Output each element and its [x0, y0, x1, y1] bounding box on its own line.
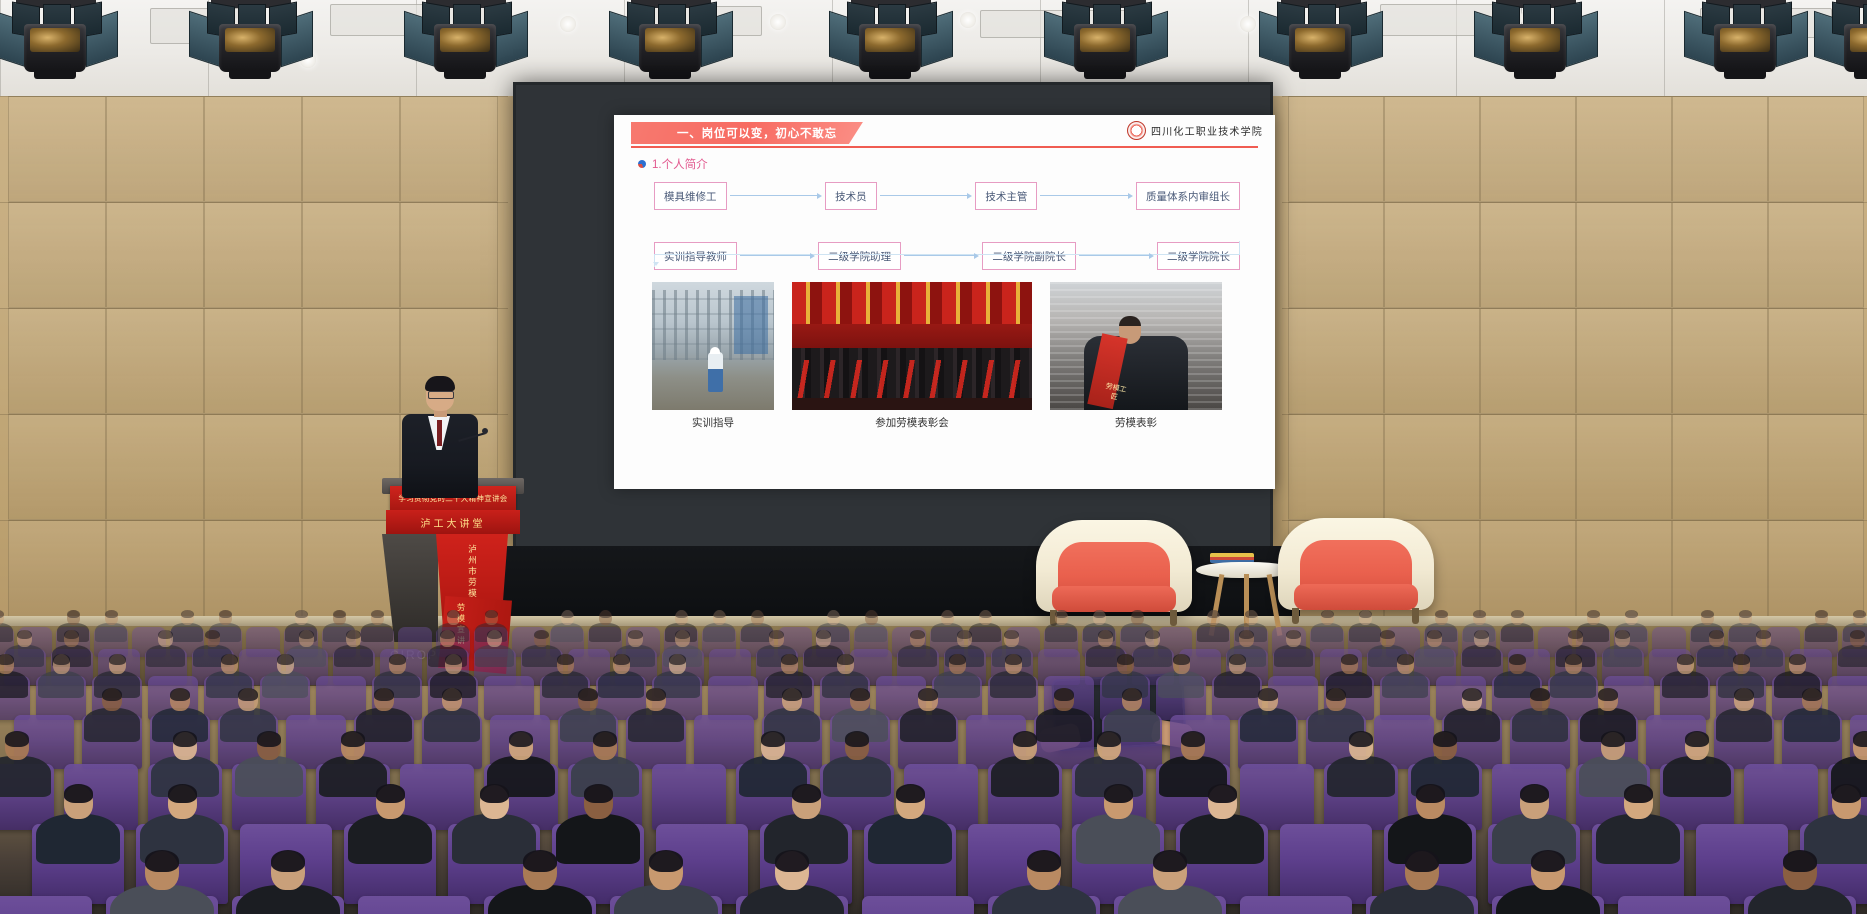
- wall-panel: [1384, 414, 1480, 520]
- audience-member-hair: [480, 784, 509, 803]
- audience-member-hair: [447, 610, 460, 618]
- wall-seam: [0, 202, 508, 203]
- audience-member-hair: [1802, 688, 1822, 701]
- audience-member-hair: [205, 630, 220, 640]
- flowchart-row-2: 实训指导教师二级学院助理二级学院副院长二级学院院长: [654, 241, 1240, 271]
- wall-panel: [1672, 414, 1768, 520]
- audience-member-hair: [827, 610, 840, 618]
- ceiling-downlight: [560, 16, 576, 32]
- audience-member-hair: [1341, 654, 1358, 665]
- wall-panel: [1384, 202, 1480, 308]
- audience-member-hair: [1145, 630, 1160, 640]
- audience-member-hair: [1173, 654, 1190, 665]
- header-rule: [631, 146, 1258, 148]
- flow-arrow-icon: [737, 243, 818, 269]
- wall-panel: [1384, 96, 1480, 202]
- audience-member-hair: [1853, 731, 1867, 747]
- wall-panel: [106, 96, 204, 202]
- audience-member-hair: [487, 630, 502, 640]
- audience-member-hair: [584, 784, 613, 803]
- audience-member-hair: [509, 731, 533, 747]
- wall-panel: [8, 96, 106, 202]
- wall-panel: [1480, 202, 1576, 308]
- audience-member-hair: [1117, 654, 1134, 665]
- audience-member-hair: [333, 610, 346, 618]
- audience-row: [0, 856, 1867, 914]
- audience-member-hair: [1565, 654, 1582, 665]
- flow-arrow-icon: [901, 243, 982, 269]
- audience-member-hair: [389, 654, 406, 665]
- slide-title-ribbon: 一、岗位可以变，初心不敢忘: [631, 122, 863, 144]
- wall-seam: [1282, 96, 1867, 97]
- audience-member-hair: [105, 610, 118, 618]
- wall-panel: [302, 202, 400, 308]
- audience-member-hair: [1097, 731, 1121, 747]
- audience-member-hair: [896, 784, 925, 803]
- audience-member-hair: [5, 731, 29, 747]
- bullet-dot-icon: [638, 160, 646, 168]
- audience-member-hair: [1258, 688, 1278, 701]
- audience-member-hair: [1208, 784, 1237, 803]
- audience-member-hair: [1405, 850, 1439, 872]
- section-label: 1.个人简介: [652, 156, 708, 172]
- flowchart-row-1: 模具维修工技术员技术主管质量体系内审组长: [654, 181, 1240, 211]
- auditorium-scene: 一、岗位可以变，初心不敢忘 四川化工职业技术学院 1.个人简介 模具维修工技术员…: [0, 0, 1867, 914]
- flowchart-node: 技术员: [825, 182, 877, 210]
- stage-spotlight: [625, 0, 717, 90]
- school-emblem-icon: [1127, 121, 1146, 140]
- wall-seam: [0, 308, 508, 309]
- audience-member-hair: [675, 610, 688, 618]
- audience-member-hair: [346, 630, 361, 640]
- audience-member-hair: [845, 731, 869, 747]
- photo-card-industrial: 实训指导: [652, 282, 774, 430]
- wall-panel: [1768, 96, 1864, 202]
- audience-member-hair: [918, 688, 938, 701]
- audience-member-hair: [782, 688, 802, 701]
- audience-member-hair: [1416, 784, 1445, 803]
- audience-member-hair: [374, 688, 394, 701]
- wall-panel: [1288, 202, 1384, 308]
- stage-spotlight: [1275, 0, 1367, 90]
- projection-screen: 一、岗位可以变，初心不敢忘 四川化工职业技术学院 1.个人简介 模具维修工技术员…: [513, 82, 1273, 554]
- wall-panel: [1768, 414, 1864, 520]
- audience-member-hair: [371, 610, 384, 618]
- audience-member-hair: [109, 654, 126, 665]
- wall-panel: [1480, 96, 1576, 202]
- audience-member-hair: [295, 610, 308, 618]
- audience-member-hair: [1624, 784, 1653, 803]
- audience-member-hair: [646, 688, 666, 701]
- podium-venue-plate: 泸工大讲堂: [386, 510, 520, 534]
- auditorium-seat[interactable]: [1240, 896, 1352, 914]
- wall-panel: [1384, 308, 1480, 414]
- audience-member-hair: [751, 610, 764, 618]
- audience-member-hair: [1568, 630, 1583, 640]
- section-bullet: 1.个人简介: [638, 156, 708, 172]
- audience-member-hair: [1783, 850, 1817, 872]
- audience-member-hair: [1587, 610, 1600, 618]
- audience-member-hair: [219, 610, 232, 618]
- audience-member-hair: [1098, 630, 1113, 640]
- audience-member-hair: [1013, 731, 1037, 747]
- audience-member-hair: [1093, 610, 1106, 618]
- wall-panel: [400, 96, 498, 202]
- wall-panel: [1480, 308, 1576, 414]
- audience-member-hair: [957, 630, 972, 640]
- wall-panel: [1288, 308, 1384, 414]
- wall-panel: [106, 414, 204, 520]
- audience-member-hair: [713, 610, 726, 618]
- audience-member-hair: [1005, 654, 1022, 665]
- stage-spotlight: [1060, 0, 1152, 90]
- audience-member-hair: [102, 688, 122, 701]
- audience-member-hair: [1734, 688, 1754, 701]
- auditorium-seat[interactable]: [1618, 896, 1730, 914]
- audience-member-hair: [1027, 850, 1061, 872]
- wall-panel: [302, 96, 400, 202]
- audience-member-hair: [1850, 630, 1865, 640]
- audience-member-hair: [1427, 630, 1442, 640]
- audience-member-hair: [1511, 610, 1524, 618]
- audience-member-hair: [534, 630, 549, 640]
- audience-member-hair: [761, 731, 785, 747]
- ceiling-downlight: [770, 14, 786, 30]
- wall-panel: [1672, 96, 1768, 202]
- audience-seating: [0, 600, 1867, 914]
- audience-member-hair: [485, 610, 498, 618]
- photo-caption: 劳模表彰: [1050, 415, 1222, 430]
- stage-spotlight: [1700, 0, 1792, 90]
- audience-member-hair: [53, 654, 70, 665]
- wall-panel: [1672, 308, 1768, 414]
- audience-member-hair: [941, 610, 954, 618]
- audience-member-hair: [769, 630, 784, 640]
- audience-member-hair: [1104, 784, 1133, 803]
- flowchart-node: 技术主管: [975, 182, 1037, 210]
- audience-member-hair: [1397, 654, 1414, 665]
- audience-member-hair: [1122, 688, 1142, 701]
- audience-member-hair: [168, 784, 197, 803]
- wall-panel: [400, 202, 498, 308]
- audience-member-hair: [593, 731, 617, 747]
- audience-member-hair: [557, 654, 574, 665]
- school-branding: 四川化工职业技术学院: [1127, 121, 1263, 140]
- audience-member-hair: [1004, 630, 1019, 640]
- presentation-slide: 一、岗位可以变，初心不敢忘 四川化工职业技术学院 1.个人简介 模具维修工技术员…: [614, 115, 1275, 489]
- audience-member-hair: [837, 654, 854, 665]
- wall-panel: [1480, 414, 1576, 520]
- audience-member-hair: [1473, 610, 1486, 618]
- wall-panel: [1576, 414, 1672, 520]
- audience-member-hair: [1625, 610, 1638, 618]
- audience-member-hair: [1359, 610, 1372, 618]
- audience-member-hair: [1131, 610, 1144, 618]
- wall-seam: [1282, 308, 1867, 309]
- audience-member-hair: [181, 610, 194, 618]
- audience-member-hair: [1229, 654, 1246, 665]
- audience-member-hair: [277, 654, 294, 665]
- audience-member-hair: [1685, 731, 1709, 747]
- wall-seam: [1282, 202, 1867, 203]
- audience-member-hair: [792, 784, 821, 803]
- photo-caption: 参加劳模表彰会: [792, 415, 1032, 430]
- auditorium-seat[interactable]: [358, 896, 470, 914]
- audience-member-hair: [649, 850, 683, 872]
- audience-member-hair: [523, 850, 557, 872]
- audience-member-hair: [64, 630, 79, 640]
- audience-member-hair: [775, 850, 809, 872]
- audience-member-hair: [17, 630, 32, 640]
- wall-panel: [204, 96, 302, 202]
- audience-member-hair: [669, 654, 686, 665]
- stage-spotlight: [1830, 0, 1867, 90]
- venue-name: 泸工大讲堂: [421, 515, 486, 530]
- photo-award-ceremony: [792, 282, 1032, 410]
- audience-member-hair: [442, 688, 462, 701]
- audience-member-hair: [816, 630, 831, 640]
- audience-member-hair: [1153, 850, 1187, 872]
- wall-panel: [204, 202, 302, 308]
- audience-member-hair: [1530, 688, 1550, 701]
- wall-panel: [1768, 202, 1864, 308]
- ceiling-seam: [1664, 0, 1665, 96]
- audience-member-hair: [910, 630, 925, 640]
- audience-member-hair: [1701, 610, 1714, 618]
- audience-member-hair: [64, 784, 93, 803]
- audience-member-hair: [440, 630, 455, 640]
- audience-member-hair: [1245, 610, 1258, 618]
- ceiling-downlight: [960, 12, 976, 28]
- audience-member-hair: [1207, 610, 1220, 618]
- audience-member-hair: [781, 654, 798, 665]
- audience-member-hair: [341, 731, 365, 747]
- audience-member-hair: [145, 850, 179, 872]
- audience-member-hair: [979, 610, 992, 618]
- audience-member-hair: [1286, 630, 1301, 640]
- audience-member-hair: [1326, 688, 1346, 701]
- audience-member-hair: [376, 784, 405, 803]
- wall-panel: [106, 202, 204, 308]
- stage-spotlight: [1490, 0, 1582, 90]
- ceiling-downlight: [1240, 16, 1256, 32]
- wall-panel: [302, 308, 400, 414]
- audience-member-hair: [1054, 688, 1074, 701]
- flow-arrow-icon: [877, 183, 976, 209]
- auditorium-seat[interactable]: [0, 896, 92, 914]
- wall-panel: [8, 202, 106, 308]
- audience-member-hair: [613, 654, 630, 665]
- audience-member-hair: [1239, 630, 1254, 640]
- audience-member-hair: [1709, 630, 1724, 640]
- audience-member-hair: [299, 630, 314, 640]
- photo-model-worker: 劳模工匠: [1050, 282, 1222, 410]
- stage-spotlight: [420, 0, 512, 90]
- audience-member-hair: [1733, 654, 1750, 665]
- wall-panel: [106, 308, 204, 414]
- audience-member-hair: [865, 610, 878, 618]
- audience-member-hair: [445, 654, 462, 665]
- audience-member-hair: [170, 688, 190, 701]
- speaker-person: [396, 378, 484, 502]
- wall-panel: [1672, 202, 1768, 308]
- school-name: 四川化工职业技术学院: [1151, 123, 1263, 138]
- audience-member-hair: [1789, 654, 1806, 665]
- audience-member-hair: [1509, 654, 1526, 665]
- audience-member-hair: [1677, 654, 1694, 665]
- audience-member-hair: [221, 654, 238, 665]
- flow-arrow-icon: [1076, 243, 1157, 269]
- slide-header: 一、岗位可以变，初心不敢忘 四川化工职业技术学院: [614, 115, 1275, 151]
- stage-spotlight: [845, 0, 937, 90]
- photo-industrial-site: [652, 282, 774, 410]
- audience-member-hair: [238, 688, 258, 701]
- audience-member-hair: [271, 850, 305, 872]
- audience-member-hair: [1615, 630, 1630, 640]
- microphone-icon: [482, 428, 488, 434]
- flowchart-node: 模具维修工: [654, 182, 727, 210]
- audience-member-hair: [0, 654, 14, 665]
- audience-member-hair: [561, 610, 574, 618]
- wall-panel: [1288, 96, 1384, 202]
- audience-member-hair: [1531, 850, 1565, 872]
- audience-member-hair: [1520, 784, 1549, 803]
- audience-member-hair: [1433, 731, 1457, 747]
- wall-panel: [204, 414, 302, 520]
- wall-panel: [1288, 414, 1384, 520]
- audience-member-hair: [675, 630, 690, 640]
- audience-member-hair: [1435, 610, 1448, 618]
- audience-member-hair: [628, 630, 643, 640]
- photo-card-portrait: 劳模工匠 劳模表彰: [1050, 282, 1222, 430]
- flowchart-node: 质量体系内审组长: [1136, 182, 1240, 210]
- audience-member-hair: [1756, 630, 1771, 640]
- flow-arrow-icon: [727, 183, 826, 209]
- photo-card-ceremony: 参加劳模表彰会: [792, 282, 1032, 430]
- audience-member-hair: [1055, 610, 1068, 618]
- flow-arrow-icon: [1037, 183, 1136, 209]
- audience-member-hair: [578, 688, 598, 701]
- wall-panel: [8, 414, 106, 520]
- audience-member-hair: [257, 731, 281, 747]
- audience-member-hair: [1853, 610, 1866, 618]
- wall-seam: [1282, 414, 1867, 415]
- stage-spotlight: [205, 0, 297, 90]
- audience-member-hair: [1474, 630, 1489, 640]
- stage-spotlight: [10, 0, 102, 90]
- wall-panel: [1576, 202, 1672, 308]
- wall-panel: [8, 308, 106, 414]
- audience-member-hair: [1598, 688, 1618, 701]
- audience-member-hair: [158, 630, 173, 640]
- audience-member-hair: [599, 610, 612, 618]
- wall-panel: [204, 308, 302, 414]
- audience-member-hair: [1321, 610, 1334, 618]
- photo-strip: 实训指导 参加劳模表彰会 劳模工匠 劳模表彰: [652, 282, 1242, 430]
- audience-member-hair: [1349, 731, 1373, 747]
- wall-panel: [1576, 308, 1672, 414]
- photo-caption: 实训指导: [652, 415, 774, 430]
- wall-panel: [1768, 308, 1864, 414]
- career-flowchart: 模具维修工技术员技术主管质量体系内审组长 实训指导教师二级学院助理二级学院副院长…: [654, 181, 1240, 271]
- audience-member-hair: [1181, 731, 1205, 747]
- audience-member-hair: [1380, 630, 1395, 640]
- audience-member-hair: [1739, 610, 1752, 618]
- audience-member-hair: [67, 610, 80, 618]
- slide-title: 一、岗位可以变，初心不敢忘: [677, 125, 837, 141]
- audience-member-hair: [1601, 731, 1625, 747]
- audience-member-hair: [1462, 688, 1482, 701]
- audience-member-hair: [850, 688, 870, 701]
- auditorium-seat[interactable]: [862, 896, 974, 914]
- wall-panel: [1576, 96, 1672, 202]
- audience-member-hair: [173, 731, 197, 747]
- glasses-icon: [428, 391, 454, 399]
- audience-member-hair: [1815, 610, 1828, 618]
- audience-member-hair: [949, 654, 966, 665]
- wall-seam: [0, 96, 508, 97]
- audience-member-hair: [1832, 784, 1861, 803]
